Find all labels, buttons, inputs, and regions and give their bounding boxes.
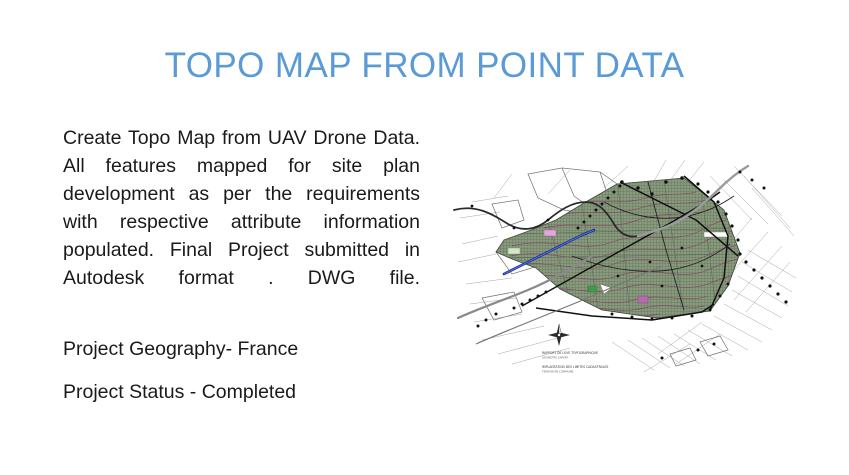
project-status-line: Project Status - Completed bbox=[63, 378, 420, 406]
topo-map-image: RAPPORT DE LEVE TOPOGRAPHIQUE GEOMETRE E… bbox=[452, 158, 797, 383]
vegetation-patch bbox=[588, 286, 597, 292]
magenta-strip bbox=[544, 230, 556, 236]
caption-line-2: GEOMETRE EXPERT bbox=[542, 356, 569, 360]
project-description-paragraph: Create Topo Map from UAV Drone Data. All… bbox=[63, 124, 420, 320]
page-title: TOPO MAP FROM POINT DATA bbox=[0, 44, 849, 88]
caption-line-1: RAPPORT DE LEVE TOPOGRAPHIQUE bbox=[542, 351, 598, 355]
caption-line-4: TERRAIN EN COMMUNE bbox=[541, 370, 574, 374]
slide-canvas: TOPO MAP FROM POINT DATA Create Topo Map… bbox=[0, 0, 849, 475]
topo-map-svg: RAPPORT DE LEVE TOPOGRAPHIQUE GEOMETRE E… bbox=[452, 158, 797, 383]
project-geography-line: Project Geography- France bbox=[63, 335, 420, 363]
green-strip bbox=[508, 248, 520, 254]
caption-line-3: IMPLANTATION DES LIMITES CADASTRALES bbox=[542, 365, 608, 369]
description-block: Create Topo Map from UAV Drone Data. All… bbox=[63, 124, 420, 406]
building-footprint bbox=[638, 296, 648, 303]
